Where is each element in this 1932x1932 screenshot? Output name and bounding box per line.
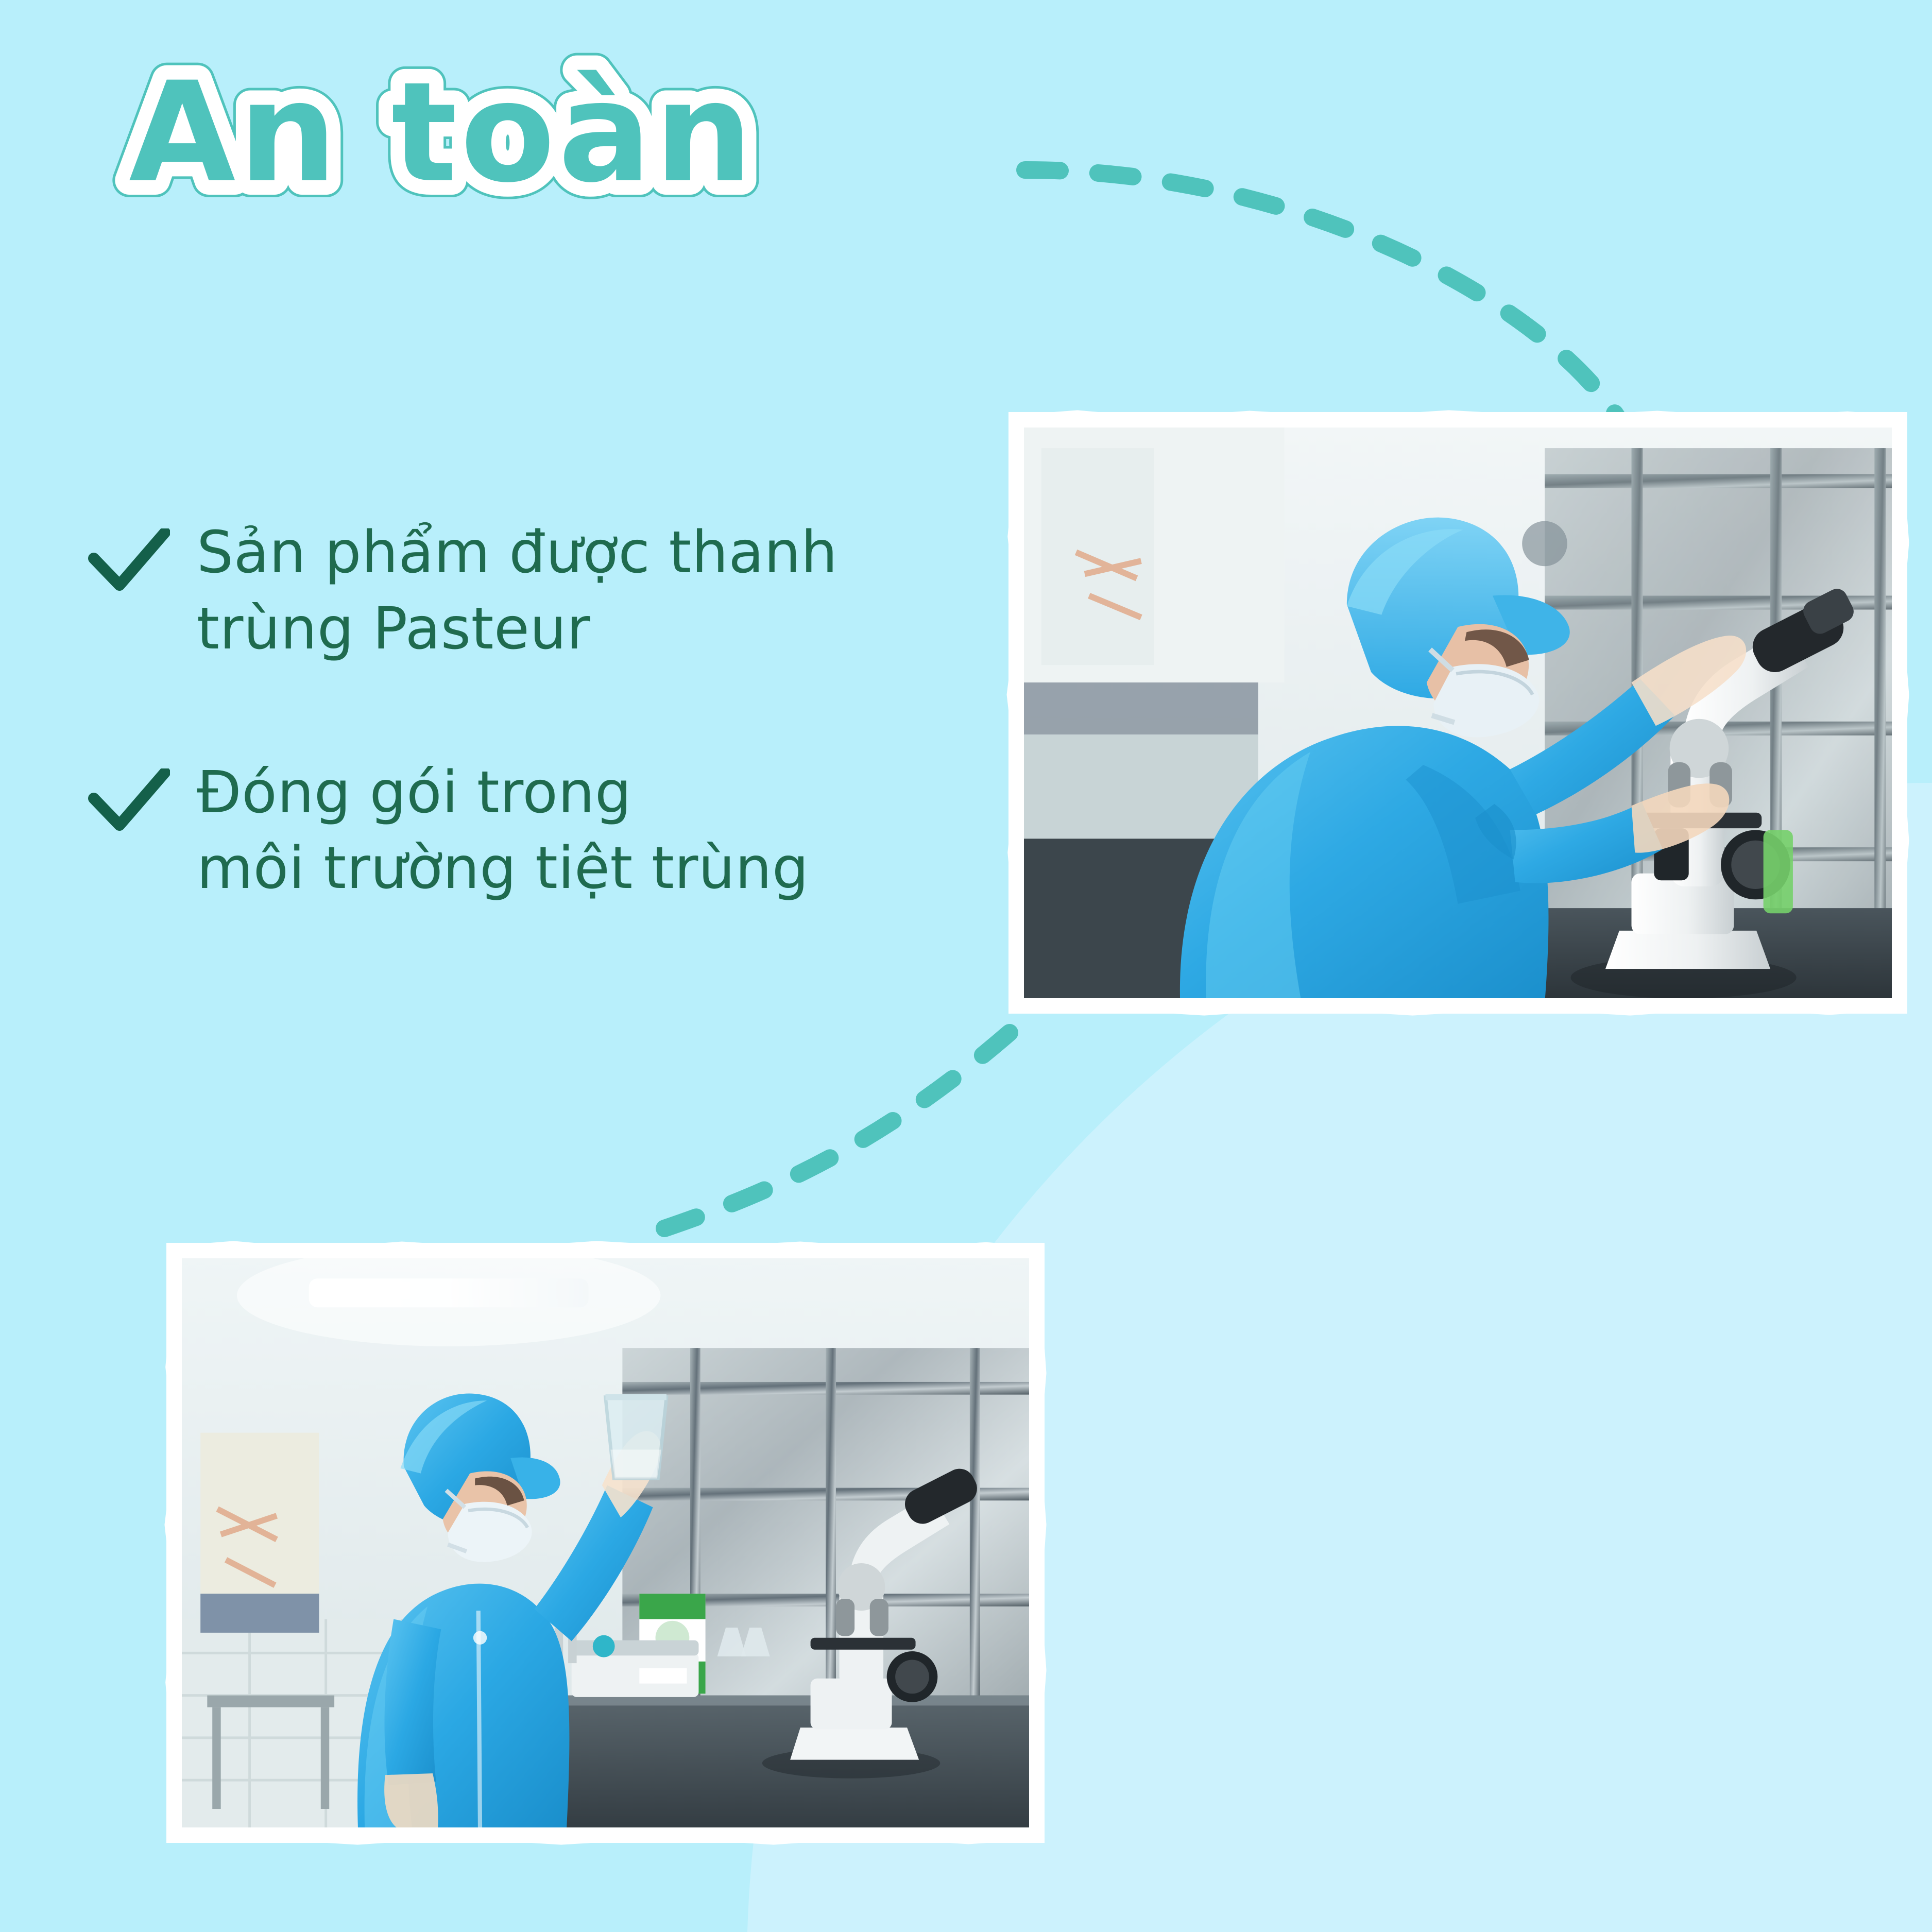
photo-image-beaker — [182, 1258, 1029, 1827]
list-item-label: Sản phẩm được thanh trùng Pasteur — [197, 515, 838, 668]
photo-image-microscope — [1024, 428, 1892, 998]
list-item-label: Đóng gói trong môi trường tiệt trùng — [197, 755, 809, 908]
microscope-scene-illustration — [1024, 428, 1892, 998]
infographic-canvas: .ttl{ font-family:"DejaVu Sans",sans-ser… — [0, 0, 1932, 1932]
list-item: Sản phẩm được thanh trùng Pasteur — [88, 515, 994, 668]
title-text-art: .ttl{ font-family:"DejaVu Sans",sans-ser… — [129, 61, 1159, 210]
check-icon — [88, 768, 170, 835]
photo-card-lab-technician-beaker — [166, 1243, 1045, 1843]
title-fill: An toàn — [129, 53, 756, 213]
photo-card-lab-technician-microscope — [1008, 412, 1907, 1014]
beaker-scene-illustration — [182, 1258, 1029, 1827]
benefits-list: Sản phẩm được thanh trùng Pasteur Đóng g… — [88, 515, 994, 995]
list-item: Đóng gói trong môi trường tiệt trùng — [88, 755, 994, 908]
check-icon — [88, 528, 170, 595]
page-title: .ttl{ font-family:"DejaVu Sans",sans-ser… — [129, 61, 1159, 210]
dashed-curve-photo-1-to-photo-2 — [664, 1033, 1010, 1228]
